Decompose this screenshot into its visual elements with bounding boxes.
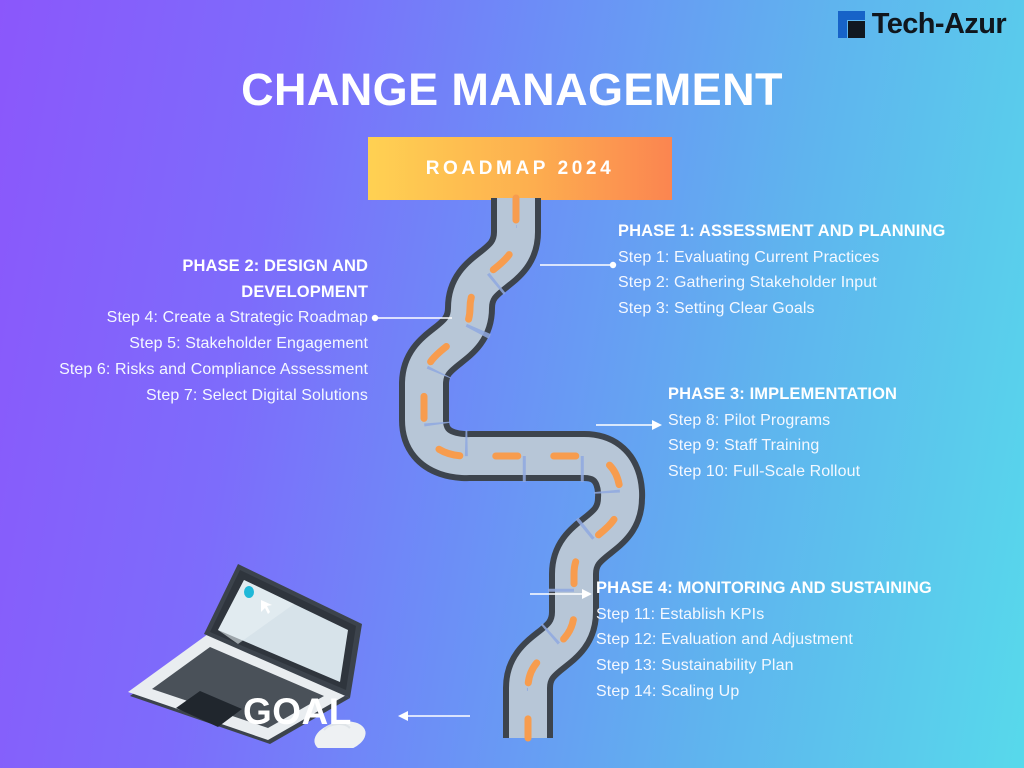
phase-2-heading: PHASE 2: DESIGN AND DEVELOPMENT <box>58 254 368 305</box>
phase-block-4: PHASE 4: MONITORING AND SUSTAINING Step … <box>596 576 946 705</box>
phase-1-step: Step 2: Gathering Stakeholder Input <box>618 270 948 296</box>
phase-3-step: Step 9: Staff Training <box>668 433 968 459</box>
phase-4-step: Step 13: Sustainability Plan <box>596 653 946 679</box>
phase-2-step: Step 7: Select Digital Solutions <box>58 383 368 409</box>
phase-4-step: Step 12: Evaluation and Adjustment <box>596 627 946 653</box>
phase-4-heading: PHASE 4: MONITORING AND SUSTAINING <box>596 576 946 602</box>
phase-2-step: Step 5: Stakeholder Engagement <box>58 331 368 357</box>
phase-2-step: Step 6: Risks and Compliance Assessment <box>58 357 368 383</box>
phase-4-step: Step 14: Scaling Up <box>596 679 946 705</box>
phase-1-step: Step 1: Evaluating Current Practices <box>618 245 948 271</box>
connector-phase-1 <box>540 262 616 268</box>
infographic-canvas: Tech-Azur CHANGE MANAGEMENT ROADMAP 2024 <box>0 0 1024 768</box>
phase-3-step: Step 8: Pilot Programs <box>668 408 968 434</box>
phase-1-step: Step 3: Setting Clear Goals <box>618 296 948 322</box>
phase-2-step: Step 4: Create a Strategic Roadmap <box>58 305 368 331</box>
connector-phase-3 <box>596 420 662 430</box>
phase-block-3: PHASE 3: IMPLEMENTATION Step 8: Pilot Pr… <box>668 382 968 485</box>
connector-goal <box>398 711 470 721</box>
phase-3-step: Step 10: Full-Scale Rollout <box>668 459 968 485</box>
goal-label: GOAL <box>243 691 352 733</box>
phase-block-2: PHASE 2: DESIGN AND DEVELOPMENT Step 4: … <box>58 254 368 409</box>
phase-3-heading: PHASE 3: IMPLEMENTATION <box>668 382 968 408</box>
phase-4-step: Step 11: Establish KPIs <box>596 602 946 628</box>
phase-1-heading: PHASE 1: ASSESSMENT AND PLANNING <box>618 219 948 245</box>
phase-block-1: PHASE 1: ASSESSMENT AND PLANNING Step 1:… <box>618 219 948 322</box>
